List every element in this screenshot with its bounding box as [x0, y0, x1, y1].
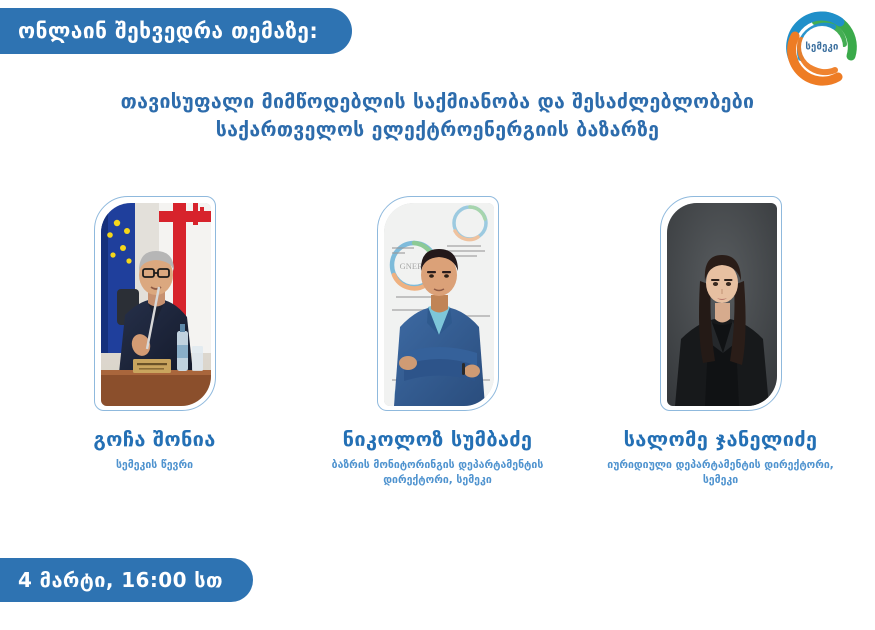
speaker-card: სალომე ჯანელიძე იურიდიული დეპარტამენტის …: [579, 196, 862, 488]
top-banner-label: ონლაინ შეხვედრა თემაზე:: [18, 21, 318, 42]
speaker-photo-image: [667, 203, 777, 406]
title-line-2: საქართველოს ელექტროენერგიის ბაზარზე: [0, 116, 875, 144]
speaker-photo-frame: GNERC: [377, 196, 499, 411]
semek-logo: სემეკი: [783, 8, 861, 86]
speaker-card: გოჩა შონია სემეკის წევრი: [13, 196, 296, 473]
speaker-photo: [667, 203, 777, 406]
speaker-name: ნიკოლოზ სუმბაძე: [343, 427, 533, 451]
page-title: თავისუფალი მიმწოდებლის საქმიანობა და შეს…: [0, 88, 875, 144]
speaker-photo-frame: [94, 196, 216, 411]
speaker-name: სალომე ჯანელიძე: [624, 427, 818, 451]
speakers-row: გოჩა შონია სემეკის წევრი: [0, 196, 875, 488]
speaker-role: ბაზრის მონიტორინგის დეპარტამენტის დირექტ…: [313, 458, 563, 488]
speaker-role: სემეკის წევრი: [116, 458, 193, 473]
title-line-1: თავისუფალი მიმწოდებლის საქმიანობა და შეს…: [0, 88, 875, 116]
speaker-photo: [101, 203, 211, 406]
speaker-card: GNERC: [296, 196, 579, 488]
top-banner: ონლაინ შეხვედრა თემაზე:: [0, 8, 352, 54]
logo-label: სემეკი: [783, 42, 861, 53]
speaker-photo-frame: [660, 196, 782, 411]
speaker-photo-image: GNERC: [384, 203, 494, 406]
speaker-role: იურიდიული დეპარტამენტის დირექტორი, სემეკ…: [596, 458, 846, 488]
speaker-photo-image: [101, 203, 211, 406]
speaker-photo: GNERC: [384, 203, 494, 406]
date-badge: 4 მარტი, 16:00 სთ: [0, 558, 253, 602]
speaker-name: გოჩა შონია: [93, 427, 215, 451]
date-badge-label: 4 მარტი, 16:00 სთ: [18, 570, 223, 590]
